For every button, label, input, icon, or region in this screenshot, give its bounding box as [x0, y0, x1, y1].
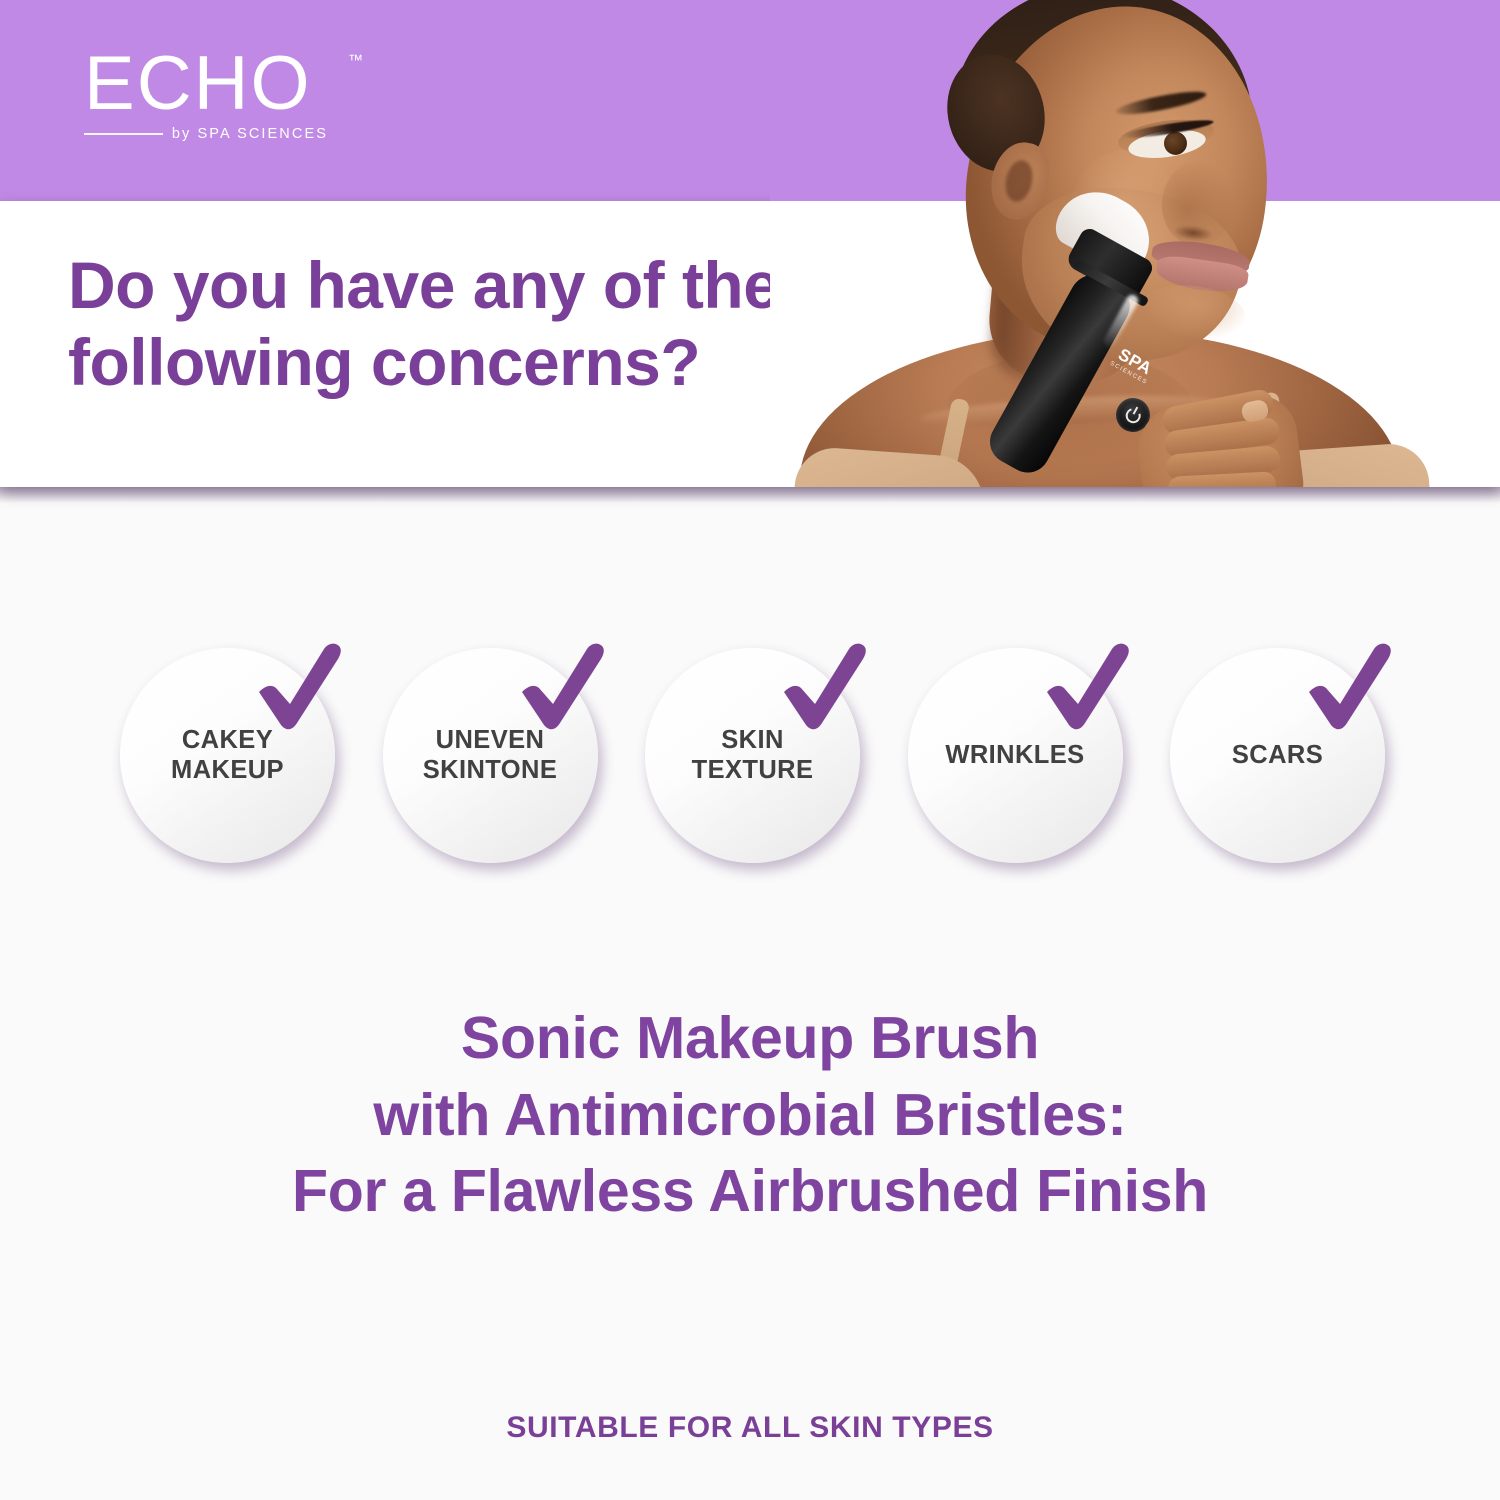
concern-item-skin-texture[interactable]: SKIN TEXTURE: [645, 648, 860, 863]
brand-name: ECHO: [84, 48, 312, 120]
concern-item-cakey-makeup[interactable]: CAKEY MAKEUP: [120, 648, 335, 863]
concern-item-uneven-skintone[interactable]: UNEVEN SKINTONE: [383, 648, 598, 863]
model-photo: SPA SCIENCES: [770, 0, 1500, 487]
footer-band: SUITABLE FOR ALL SKIN TYPES: [0, 1355, 1500, 1500]
product-title: Sonic Makeup Brush with Antimicrobial Br…: [0, 1000, 1500, 1230]
concern-item-scars[interactable]: SCARS: [1170, 648, 1385, 863]
brand-tagline: by SPA SCIENCES: [172, 126, 328, 142]
logo-divider-line: [84, 133, 163, 135]
device-brand-mark: SPA SCIENCES: [1096, 339, 1167, 399]
concern-label: SCARS: [1216, 740, 1339, 770]
concern-label: CAKEY MAKEUP: [155, 725, 300, 785]
footer-text: SUITABLE FOR ALL SKIN TYPES: [506, 1411, 993, 1445]
brand-logo: ECHO ™ by SPA SCIENCES: [84, 48, 344, 142]
concern-label: UNEVEN SKINTONE: [407, 725, 574, 785]
sonic-makeup-brush: SPA SCIENCES: [770, 0, 1500, 487]
concern-label: SKIN TEXTURE: [676, 725, 830, 785]
concern-item-wrinkles[interactable]: WRINKLES: [908, 648, 1123, 863]
product-infographic: ECHO ™ by SPA SCIENCES Do you have any o…: [0, 0, 1500, 1500]
concerns-row: CAKEY MAKEUP UNEVEN SKINTONE SKIN TEXTUR…: [120, 645, 1385, 865]
trademark-symbol: ™: [348, 52, 363, 69]
concern-label: WRINKLES: [929, 740, 1100, 770]
